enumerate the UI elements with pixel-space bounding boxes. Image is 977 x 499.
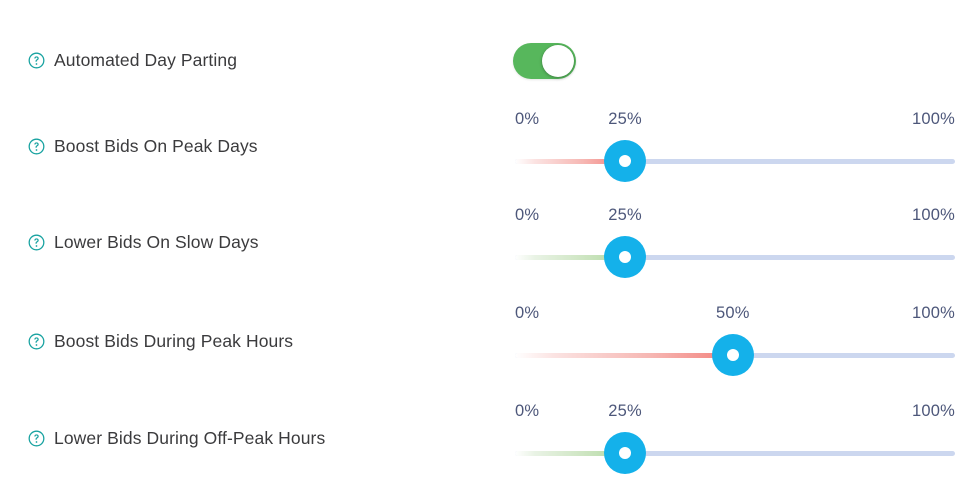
slider-lower-bids-during-off-peak-hours[interactable]: 0% 25% 100% xyxy=(515,400,955,474)
slider-value-label: 25% xyxy=(608,108,642,130)
slider-min-label: 0% xyxy=(515,108,539,130)
slider-value-label: 25% xyxy=(608,204,642,226)
slider-max-label: 100% xyxy=(912,400,955,422)
slider-max-label: 100% xyxy=(912,108,955,130)
setting-row-lower-bids-on-slow-days: Lower Bids On Slow Days 0% 25% 100% xyxy=(0,197,977,294)
row-label-cell: Boost Bids On Peak Days xyxy=(28,138,258,156)
question-circle-icon[interactable] xyxy=(28,52,45,69)
slider-tick-labels: 0% 25% 100% xyxy=(515,108,955,130)
row-label-text: Lower Bids During Off-Peak Hours xyxy=(54,430,325,448)
row-label-cell: Automated Day Parting xyxy=(28,52,237,70)
row-label-cell: Boost Bids During Peak Hours xyxy=(28,333,293,351)
slider-thumb[interactable] xyxy=(604,140,646,182)
question-circle-icon[interactable] xyxy=(28,234,45,251)
row-label-text: Lower Bids On Slow Days xyxy=(54,234,259,252)
slider-track[interactable] xyxy=(515,334,955,376)
slider-track[interactable] xyxy=(515,236,955,278)
slider-thumb-dot xyxy=(619,155,631,167)
row-label-text: Boost Bids During Peak Hours xyxy=(54,333,293,351)
slider-thumb-dot xyxy=(727,349,739,361)
setting-row-boost-bids-during-peak-hours: Boost Bids During Peak Hours 0% 50% 100% xyxy=(0,294,977,392)
slider-max-label: 100% xyxy=(912,204,955,226)
row-label-text: Automated Day Parting xyxy=(54,52,237,70)
slider-track-fill xyxy=(515,353,733,358)
slider-lower-bids-on-slow-days[interactable]: 0% 25% 100% xyxy=(515,204,955,278)
slider-thumb-dot xyxy=(619,251,631,263)
slider-min-label: 0% xyxy=(515,204,539,226)
day-parting-settings-panel: Automated Day Parting Boost Bids On Peak… xyxy=(0,0,977,499)
row-label-cell: Lower Bids On Slow Days xyxy=(28,234,259,252)
slider-boost-bids-on-peak-days[interactable]: 0% 25% 100% xyxy=(515,108,955,182)
question-circle-icon[interactable] xyxy=(28,430,45,447)
slider-value-label: 50% xyxy=(716,302,750,324)
slider-tick-labels: 0% 25% 100% xyxy=(515,204,955,226)
setting-row-boost-bids-on-peak-days: Boost Bids On Peak Days 0% 25% 100% xyxy=(0,100,977,197)
question-circle-icon[interactable] xyxy=(28,138,45,155)
slider-boost-bids-during-peak-hours[interactable]: 0% 50% 100% xyxy=(515,302,955,376)
slider-tick-labels: 0% 50% 100% xyxy=(515,302,955,324)
slider-track[interactable] xyxy=(515,432,955,474)
toggle-automated-day-parting[interactable] xyxy=(513,43,576,79)
question-circle-icon[interactable] xyxy=(28,333,45,350)
toggle-knob xyxy=(542,45,574,77)
row-label-cell: Lower Bids During Off-Peak Hours xyxy=(28,430,325,448)
slider-thumb[interactable] xyxy=(712,334,754,376)
slider-value-label: 25% xyxy=(608,400,642,422)
setting-row-lower-bids-during-off-peak-hours: Lower Bids During Off-Peak Hours 0% 25% … xyxy=(0,392,977,499)
row-label-text: Boost Bids On Peak Days xyxy=(54,138,258,156)
slider-thumb-dot xyxy=(619,447,631,459)
setting-row-automated-day-parting: Automated Day Parting xyxy=(0,0,977,100)
slider-min-label: 0% xyxy=(515,400,539,422)
slider-min-label: 0% xyxy=(515,302,539,324)
slider-thumb[interactable] xyxy=(604,236,646,278)
slider-track[interactable] xyxy=(515,140,955,182)
slider-max-label: 100% xyxy=(912,302,955,324)
slider-thumb[interactable] xyxy=(604,432,646,474)
slider-tick-labels: 0% 25% 100% xyxy=(515,400,955,422)
